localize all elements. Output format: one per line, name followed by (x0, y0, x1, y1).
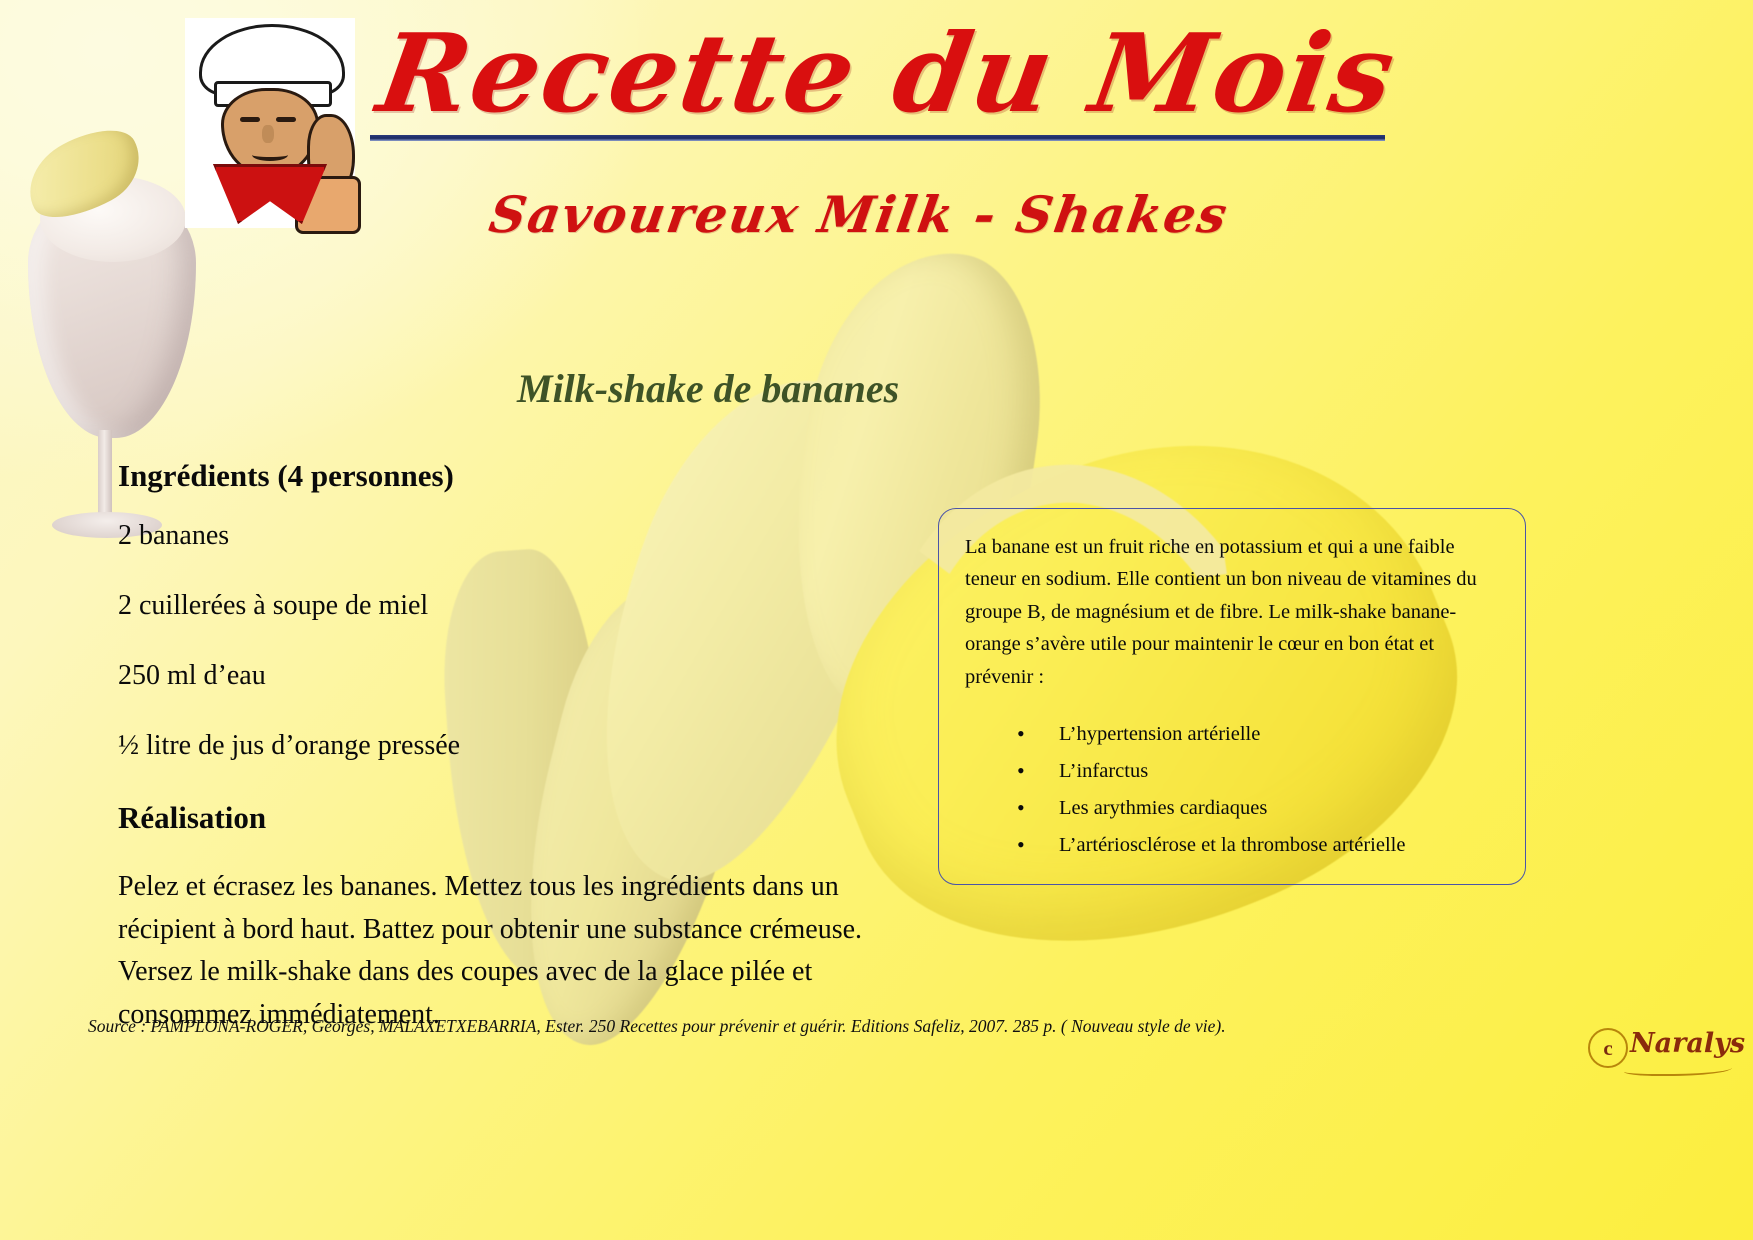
logo-brand-text: Naralys (1630, 1028, 1745, 1059)
benefits-list: L’hypertension artérielle L’infarctus Le… (965, 719, 1499, 862)
preparation-heading: Réalisation (118, 800, 918, 836)
chef-hat-icon (199, 24, 345, 96)
ingredients-heading: Ingrédients (4 personnes) (118, 458, 918, 494)
nutrition-paragraph: La banane est un fruit riche en potassiu… (965, 531, 1499, 693)
glass-bowl (28, 188, 196, 438)
logo-swash (1624, 1062, 1732, 1076)
nutrition-info-box: La banane est un fruit riche en potassiu… (938, 508, 1526, 885)
page-title: Recette du Mois (361, 18, 1409, 131)
chef-eye-right (276, 117, 296, 122)
list-item: L’artériosclérose et la thrombose artéri… (1017, 830, 1499, 861)
header-subtitle: Savoureux Milk - Shakes (485, 185, 1404, 244)
poster-page: Recette du Mois Savoureux Milk - Shakes … (0, 0, 1753, 1240)
list-item: Les arythmies cardiaques (1017, 793, 1499, 824)
glass-stem (98, 430, 112, 518)
header: Recette du Mois Savoureux Milk - Shakes (370, 18, 1400, 244)
ingredient-item: 250 ml d’eau (118, 660, 918, 692)
chef-nose (262, 125, 274, 143)
recipe-title: Milk-shake de bananes (517, 365, 899, 412)
naralys-logo: c Naralys (1588, 1022, 1736, 1074)
copyright-icon: c (1588, 1028, 1628, 1068)
list-item: L’hypertension artérielle (1017, 719, 1499, 750)
ingredient-item: ½ litre de jus d’orange pressée (118, 730, 918, 762)
list-item: L’infarctus (1017, 756, 1499, 787)
glass-foam (40, 176, 186, 262)
source-citation: Source : PAMPLONA-ROGER, Georges, MALAXE… (88, 1016, 1388, 1037)
ingredient-item: 2 cuillerées à soupe de miel (118, 590, 918, 622)
recipe-details: Ingrédients (4 personnes) 2 bananes 2 cu… (118, 458, 918, 1036)
chef-eye-left (240, 117, 260, 122)
ingredient-item: 2 bananes (118, 520, 918, 552)
banana-garnish (14, 114, 154, 234)
chef-icon (185, 18, 355, 228)
chef-mouth (252, 149, 288, 161)
preparation-text: Pelez et écrasez les bananes. Mettez tou… (118, 866, 908, 1036)
